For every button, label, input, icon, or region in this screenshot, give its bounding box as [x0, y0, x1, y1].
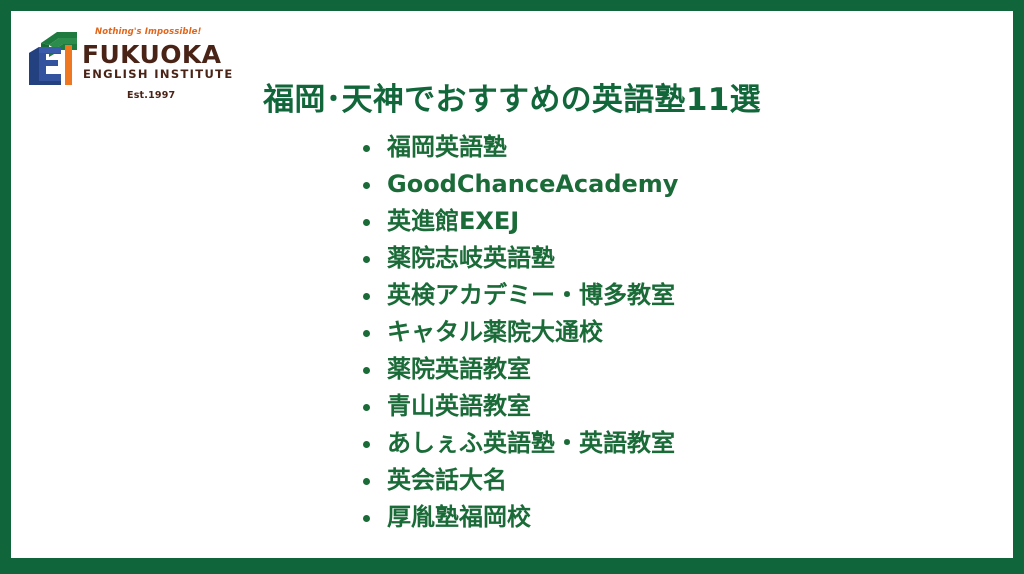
list-item: 英進館EXEJ [341, 203, 678, 240]
list-item-label: 英進館EXEJ [387, 207, 519, 235]
list-item: 英検アカデミー・博多教室 [341, 277, 678, 314]
list-item-label: 薬院志岐英語塾 [387, 244, 555, 272]
bullet-icon [363, 404, 370, 411]
bullet-icon [363, 441, 370, 448]
bullet-icon [363, 515, 370, 522]
bullet-icon [363, 145, 370, 152]
bullet-icon [363, 478, 370, 485]
page-title: 福岡･天神でおすすめの英語塾11選 [11, 74, 1013, 119]
list-item-label: GoodChanceAcademy [387, 170, 678, 198]
slide-frame: Nothing's Impossible! FUKUOKA ENGLISH IN… [0, 0, 1024, 574]
list-item: 福岡英語塾 [341, 129, 678, 166]
list-item-label: 青山英語教室 [387, 392, 531, 420]
list-item-label: 福岡英語塾 [387, 133, 507, 161]
bullet-icon [363, 367, 370, 374]
logo-brand-main: FUKUOKA [82, 42, 221, 67]
bullet-icon [363, 330, 370, 337]
list-item: 薬院志岐英語塾 [341, 240, 678, 277]
bullet-icon [363, 256, 370, 263]
list-item-label: 英検アカデミー・博多教室 [387, 281, 675, 309]
list-item-label: 厚胤塾福岡校 [387, 503, 531, 531]
list-item: 厚胤塾福岡校 [341, 499, 678, 536]
list-item-label: 英会話大名 [387, 466, 507, 494]
list-item: GoodChanceAcademy [341, 166, 678, 203]
bullet-icon [363, 293, 370, 300]
list-item-label: 薬院英語教室 [387, 355, 531, 383]
list-item: 薬院英語教室 [341, 351, 678, 388]
bullet-icon [363, 219, 370, 226]
list-item: キャタル薬院大通校 [341, 314, 678, 351]
logo-tagline: Nothing's Impossible! [95, 27, 201, 37]
list-item-label: キャタル薬院大通校 [387, 318, 603, 346]
list-item: あしぇふ英語塾・英語教室 [341, 425, 678, 462]
slide-content-area: Nothing's Impossible! FUKUOKA ENGLISH IN… [11, 11, 1013, 558]
list-item: 青山英語教室 [341, 388, 678, 425]
list-item: 英会話大名 [341, 462, 678, 499]
list-item-label: あしぇふ英語塾・英語教室 [387, 429, 675, 457]
school-list: 福岡英語塾 GoodChanceAcademy 英進館EXEJ 薬院志岐英語塾 … [341, 129, 678, 536]
bullet-icon [363, 182, 370, 189]
